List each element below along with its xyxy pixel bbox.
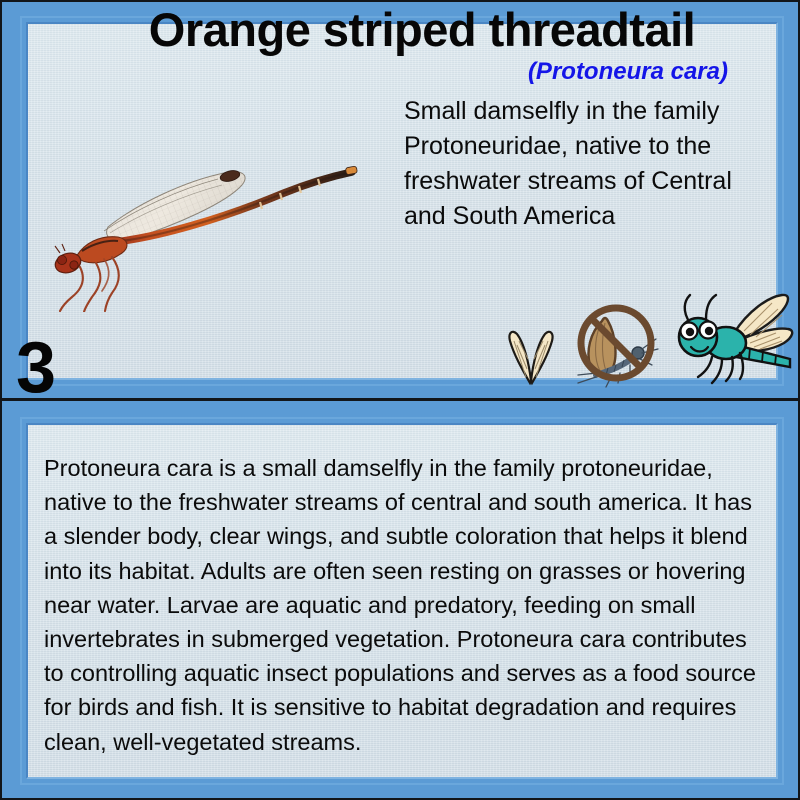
no-mayfly-prohibition-icon: [570, 293, 662, 394]
panel-divider: [2, 398, 800, 401]
damselfly-eye: [70, 261, 78, 269]
damselfly-thorax: [76, 237, 127, 263]
top-panel-content: Orange striped threadtail (Protoneura ca…: [2, 2, 800, 400]
icon-row: [496, 294, 796, 394]
card-number: 3: [16, 332, 56, 404]
damselfly-illustration: [46, 147, 376, 312]
damselfly-eye: [57, 255, 66, 264]
top-panel: Orange striped threadtail (Protoneura ca…: [2, 2, 800, 400]
damselfly-head: [53, 244, 84, 276]
bottom-panel: Protoneura cara is a small damselfly in …: [2, 401, 800, 800]
scientific-name: (Protoneura cara): [528, 58, 728, 86]
cartoon-dragonfly-icon: [664, 289, 796, 394]
description-text: Protoneura cara is a small damselfly in …: [44, 451, 756, 759]
summary-text: Small damselfly in the family Protoneuri…: [404, 94, 734, 234]
page-title: Orange striped threadtail: [2, 2, 800, 58]
insect-wings-icon: [496, 311, 568, 394]
species-info-card: Orange striped threadtail (Protoneura ca…: [0, 0, 800, 800]
damselfly-photo: [46, 147, 376, 312]
abdomen-tip: [345, 166, 357, 175]
